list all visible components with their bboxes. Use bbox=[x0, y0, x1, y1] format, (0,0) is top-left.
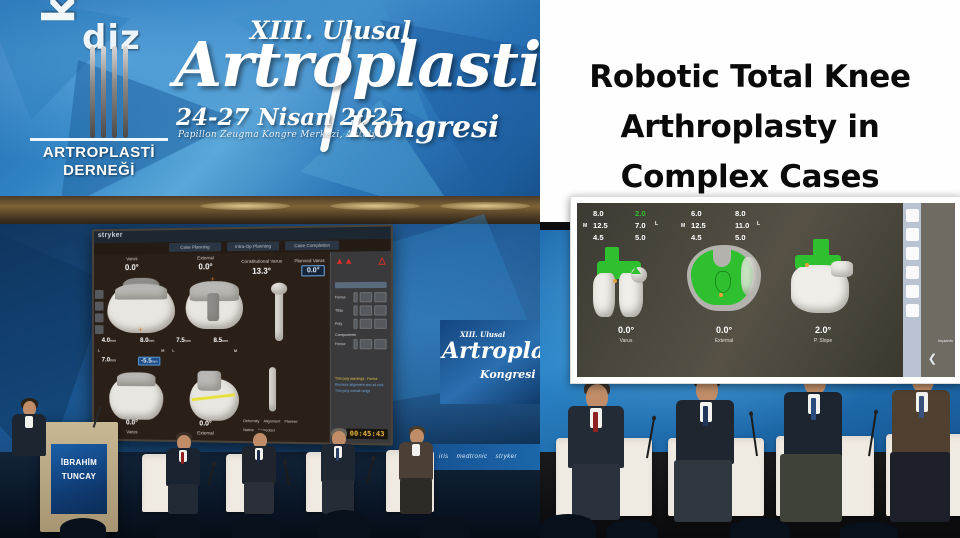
row-label-components: Femur bbox=[335, 342, 351, 346]
tibia-size-select[interactable] bbox=[353, 305, 357, 315]
sponsor-2: medtronic bbox=[457, 454, 488, 460]
tibia-value-a[interactable] bbox=[360, 305, 372, 315]
femur-resection-1: 4.0mm bbox=[102, 337, 116, 344]
mako-sidebar-controls[interactable]: Femur Tibia Poly bbox=[335, 282, 387, 353]
femur-resection-2: 8.0mm bbox=[140, 337, 154, 344]
inset-pslope-label: P. Slope bbox=[783, 338, 863, 344]
femur-value-b[interactable] bbox=[374, 292, 386, 302]
mako-tibia-sagittal: 0.0° External bbox=[170, 363, 241, 441]
tab-case-completion[interactable]: Case Completion bbox=[285, 241, 339, 251]
mako-row-sagittal: 7.0mm -5.5mm 0.0° Varus 0.0° External bbox=[94, 362, 331, 442]
marker-medial-inset-1: M bbox=[583, 223, 587, 229]
gap-l1-b: 7.0 bbox=[635, 221, 646, 230]
inset-pslope-value: 2.0° bbox=[783, 325, 863, 335]
sponsor-1: iris bbox=[439, 454, 449, 460]
lower-resection-1: 7.0mm bbox=[102, 357, 116, 364]
speaker-at-podium bbox=[8, 398, 48, 458]
knee-model-sagittal bbox=[785, 239, 861, 323]
inset-varus-value: 0.0° bbox=[591, 325, 661, 335]
poly-size-select[interactable] bbox=[353, 319, 357, 329]
mako-row-coronal: Varus 0.0° + 4.0mm 8.0mm L M External bbox=[94, 252, 331, 364]
gap-l2-c: 5.0 bbox=[735, 233, 746, 242]
sidebar-row-tibia[interactable]: Tibia bbox=[335, 305, 387, 315]
mako-limb-axis-view: Constitutional Varus 13.3° Planned Varus… bbox=[241, 252, 331, 364]
podium-name-line2: TUNCAY bbox=[62, 472, 96, 481]
femur-value-a[interactable] bbox=[360, 292, 372, 302]
femur-implant-icon[interactable] bbox=[906, 209, 919, 222]
bottom-external-value: 0.0° bbox=[170, 420, 241, 428]
warning-note-3: Thin poly overall range bbox=[335, 388, 387, 395]
mako-warning-notes: Thin poly warnings - Femur Recheck align… bbox=[335, 376, 387, 395]
inset-viewport: M 8.0 12.5 4.5 2.0 7.0 5.0 L M 6.0 12.5 … bbox=[577, 203, 903, 377]
mako-planning-screen[interactable]: stryker Case Planning Intra-Op Planning … bbox=[92, 224, 393, 445]
logo-line2: DERNEĞİ bbox=[24, 162, 174, 179]
planned-varus-label: Planned Varus bbox=[292, 258, 327, 263]
btn-deformity[interactable]: Deformity bbox=[243, 419, 259, 423]
collage-root: diz kalça ARTROPLASTİ DERNEĞİ XIII. Ulus… bbox=[0, 0, 960, 538]
title-line-2: Arthroplasty in bbox=[540, 102, 960, 152]
knee-planning-inset[interactable]: M 8.0 12.5 4.5 2.0 7.0 5.0 L M 6.0 12.5 … bbox=[570, 196, 960, 384]
planned-varus-value: 0.0° bbox=[302, 265, 325, 276]
panelist-3 bbox=[318, 428, 360, 514]
btn-planner[interactable]: Planner bbox=[284, 420, 297, 424]
inset-varus-label: Varus bbox=[591, 338, 661, 344]
ligament-icon[interactable] bbox=[906, 285, 919, 298]
poly-value-a[interactable] bbox=[360, 319, 372, 329]
chevron-left-icon[interactable]: ❮ bbox=[928, 352, 937, 365]
sidebar-row-components[interactable]: Femur bbox=[335, 339, 387, 349]
implant-icon-left[interactable]: ▲▲ bbox=[335, 256, 353, 266]
panel-person-4 bbox=[888, 362, 960, 522]
marker-medial-2: M bbox=[234, 348, 237, 353]
gap-m1-b: 12.5 bbox=[593, 221, 608, 230]
constitutional-varus-value: 13.3° bbox=[237, 267, 286, 277]
sponsor-3: stryker bbox=[496, 454, 518, 460]
marker-lateral-inset-2: L bbox=[757, 221, 760, 227]
knee-model-axial bbox=[683, 243, 765, 321]
rotate-tool-icon[interactable] bbox=[95, 313, 104, 322]
marker-lateral-inset-1: L bbox=[655, 221, 658, 227]
poly-value-b[interactable] bbox=[374, 319, 386, 329]
components-a[interactable] bbox=[360, 339, 372, 349]
ribbon-icon bbox=[90, 46, 136, 138]
banner-text-block: XIII. Ulusal Artroplasti 24-27 Nisan 202… bbox=[172, 6, 532, 186]
row-label-femur: Femur bbox=[335, 295, 351, 299]
components-select[interactable] bbox=[353, 339, 357, 349]
lower-resection-2-highlighted[interactable]: -5.5mm bbox=[138, 357, 160, 366]
section-header bbox=[335, 282, 387, 289]
presentation-title: Robotic Total Knee Arthroplasty in Compl… bbox=[540, 52, 960, 203]
mako-tool-rail[interactable] bbox=[95, 290, 105, 337]
tab-case-planning[interactable]: Case Planning bbox=[169, 242, 221, 252]
logo-divider bbox=[30, 138, 168, 141]
inset-side-panel[interactable]: Implants ❮ bbox=[921, 203, 955, 377]
society-logo: diz kalça ARTROPLASTİ DERNEĞİ bbox=[24, 16, 174, 176]
mako-viewport: Varus 0.0° + 4.0mm 8.0mm L M External bbox=[94, 252, 331, 443]
logo-kalca-text: kalça bbox=[34, 0, 85, 24]
congress-hall-photo: stryker Case Planning Intra-Op Planning … bbox=[0, 196, 540, 538]
gap-m2-a: 6.0 bbox=[691, 209, 702, 218]
components-group-title: Components bbox=[335, 333, 387, 337]
tibia-resection-2: 8.5mm bbox=[213, 337, 228, 344]
gap-l1-a: 2.0 bbox=[635, 209, 646, 218]
btn-alignment[interactable]: Alignment bbox=[263, 419, 280, 423]
zoom-tool-icon[interactable] bbox=[95, 290, 104, 299]
marker-lateral-1: L bbox=[98, 348, 100, 353]
banner-subtitle: Kongresi bbox=[348, 110, 499, 145]
layers-tool-icon[interactable] bbox=[95, 325, 104, 334]
panel-person-1 bbox=[562, 380, 630, 520]
gap-l2-b: 11.0 bbox=[735, 221, 749, 230]
row-label-poly: Poly bbox=[335, 322, 351, 326]
sidebar-row-femur[interactable]: Femur bbox=[335, 292, 387, 302]
marker-medial-1: M bbox=[161, 348, 164, 353]
tab-intraop-planning[interactable]: Intra-Op Planning bbox=[227, 241, 280, 251]
tibia-value-b[interactable] bbox=[374, 305, 386, 315]
panel-person-2 bbox=[670, 372, 742, 522]
mako-femur-view: Varus 0.0° + 4.0mm 8.0mm L M bbox=[94, 254, 170, 363]
tibia-label: External bbox=[170, 255, 241, 261]
mako-tibia-view: External 0.0° + 7.5mm 8.5mm L M bbox=[170, 253, 241, 363]
gap-l2-a: 8.0 bbox=[735, 209, 746, 218]
banner-title: Artroplasti bbox=[174, 34, 540, 96]
inset-icon-rail[interactable] bbox=[903, 203, 921, 377]
panel-audience-2 bbox=[606, 520, 658, 538]
gap-l1-c: 5.0 bbox=[635, 233, 646, 242]
components-b[interactable] bbox=[374, 339, 386, 349]
side-banner-title: Artroplasti bbox=[442, 338, 540, 364]
knee-model-coronal bbox=[591, 247, 661, 319]
gap-m1-c: 4.5 bbox=[593, 233, 604, 242]
implant-icon-right[interactable]: △ bbox=[378, 255, 385, 266]
panelist-4 bbox=[396, 426, 438, 514]
gap-m1-a: 8.0 bbox=[593, 209, 604, 218]
panel-audience-1 bbox=[540, 514, 596, 538]
panel-person-3 bbox=[776, 364, 852, 522]
femur-label: Varus bbox=[94, 256, 170, 262]
resection-icon[interactable] bbox=[906, 247, 919, 260]
speaker-podium: İBRAHİM TUNCAY bbox=[40, 422, 118, 532]
mako-sidebar[interactable]: ▲▲ △ Femur Tibia bbox=[330, 251, 391, 443]
podium-name-line1: İBRAHİM bbox=[61, 458, 97, 467]
panelist-1 bbox=[164, 432, 204, 514]
constitutional-varus-label: Constitutional Varus bbox=[237, 258, 286, 264]
congress-banner-photo: diz kalça ARTROPLASTİ DERNEĞİ XIII. Ulus… bbox=[0, 0, 540, 196]
gap-balance-icon[interactable] bbox=[906, 304, 919, 317]
tibia-resection-1: 7.5mm bbox=[176, 337, 191, 344]
presentation-title-card: Robotic Total Knee Arthroplasty in Compl… bbox=[540, 0, 960, 222]
title-line-1: Robotic Total Knee bbox=[540, 52, 960, 102]
gap-m2-b: 12.5 bbox=[691, 221, 706, 230]
mako-tab-bar[interactable]: Case Planning Intra-Op Planning Case Com… bbox=[169, 240, 339, 253]
panel-audience-4 bbox=[840, 522, 898, 538]
logo-line1: ARTROPLASTİ bbox=[24, 144, 174, 161]
marker-lateral-2: L bbox=[172, 348, 174, 353]
gap-m2-c: 4.5 bbox=[691, 233, 702, 242]
femur-value: 0.0° bbox=[94, 263, 170, 273]
inset-frame: M 8.0 12.5 4.5 2.0 7.0 5.0 L M 6.0 12.5 … bbox=[577, 203, 955, 377]
inset-implants-label: Implants bbox=[938, 338, 953, 343]
marker-medial-inset-2: M bbox=[681, 223, 685, 229]
sidebar-row-poly[interactable]: Poly bbox=[335, 319, 387, 329]
panel-audience-3 bbox=[730, 518, 790, 538]
femur-size-select[interactable] bbox=[353, 292, 357, 302]
bone-model-icon[interactable] bbox=[906, 266, 919, 279]
side-banner: XIII. Ulusal Artroplasti Kongresi bbox=[440, 320, 540, 404]
inset-external-value: 0.0° bbox=[683, 325, 765, 335]
panelist-2 bbox=[240, 430, 280, 514]
stryker-logo: stryker bbox=[98, 232, 123, 239]
row-label-tibia: Tibia bbox=[335, 309, 351, 313]
tibia-implant-icon[interactable] bbox=[906, 228, 919, 241]
side-banner-subtitle: Kongresi bbox=[480, 368, 536, 381]
podium-name-screen: İBRAHİM TUNCAY bbox=[51, 444, 107, 514]
pan-tool-icon[interactable] bbox=[95, 302, 104, 311]
tibia-value: 0.0° bbox=[170, 262, 241, 272]
inset-external-label: External bbox=[683, 338, 765, 344]
